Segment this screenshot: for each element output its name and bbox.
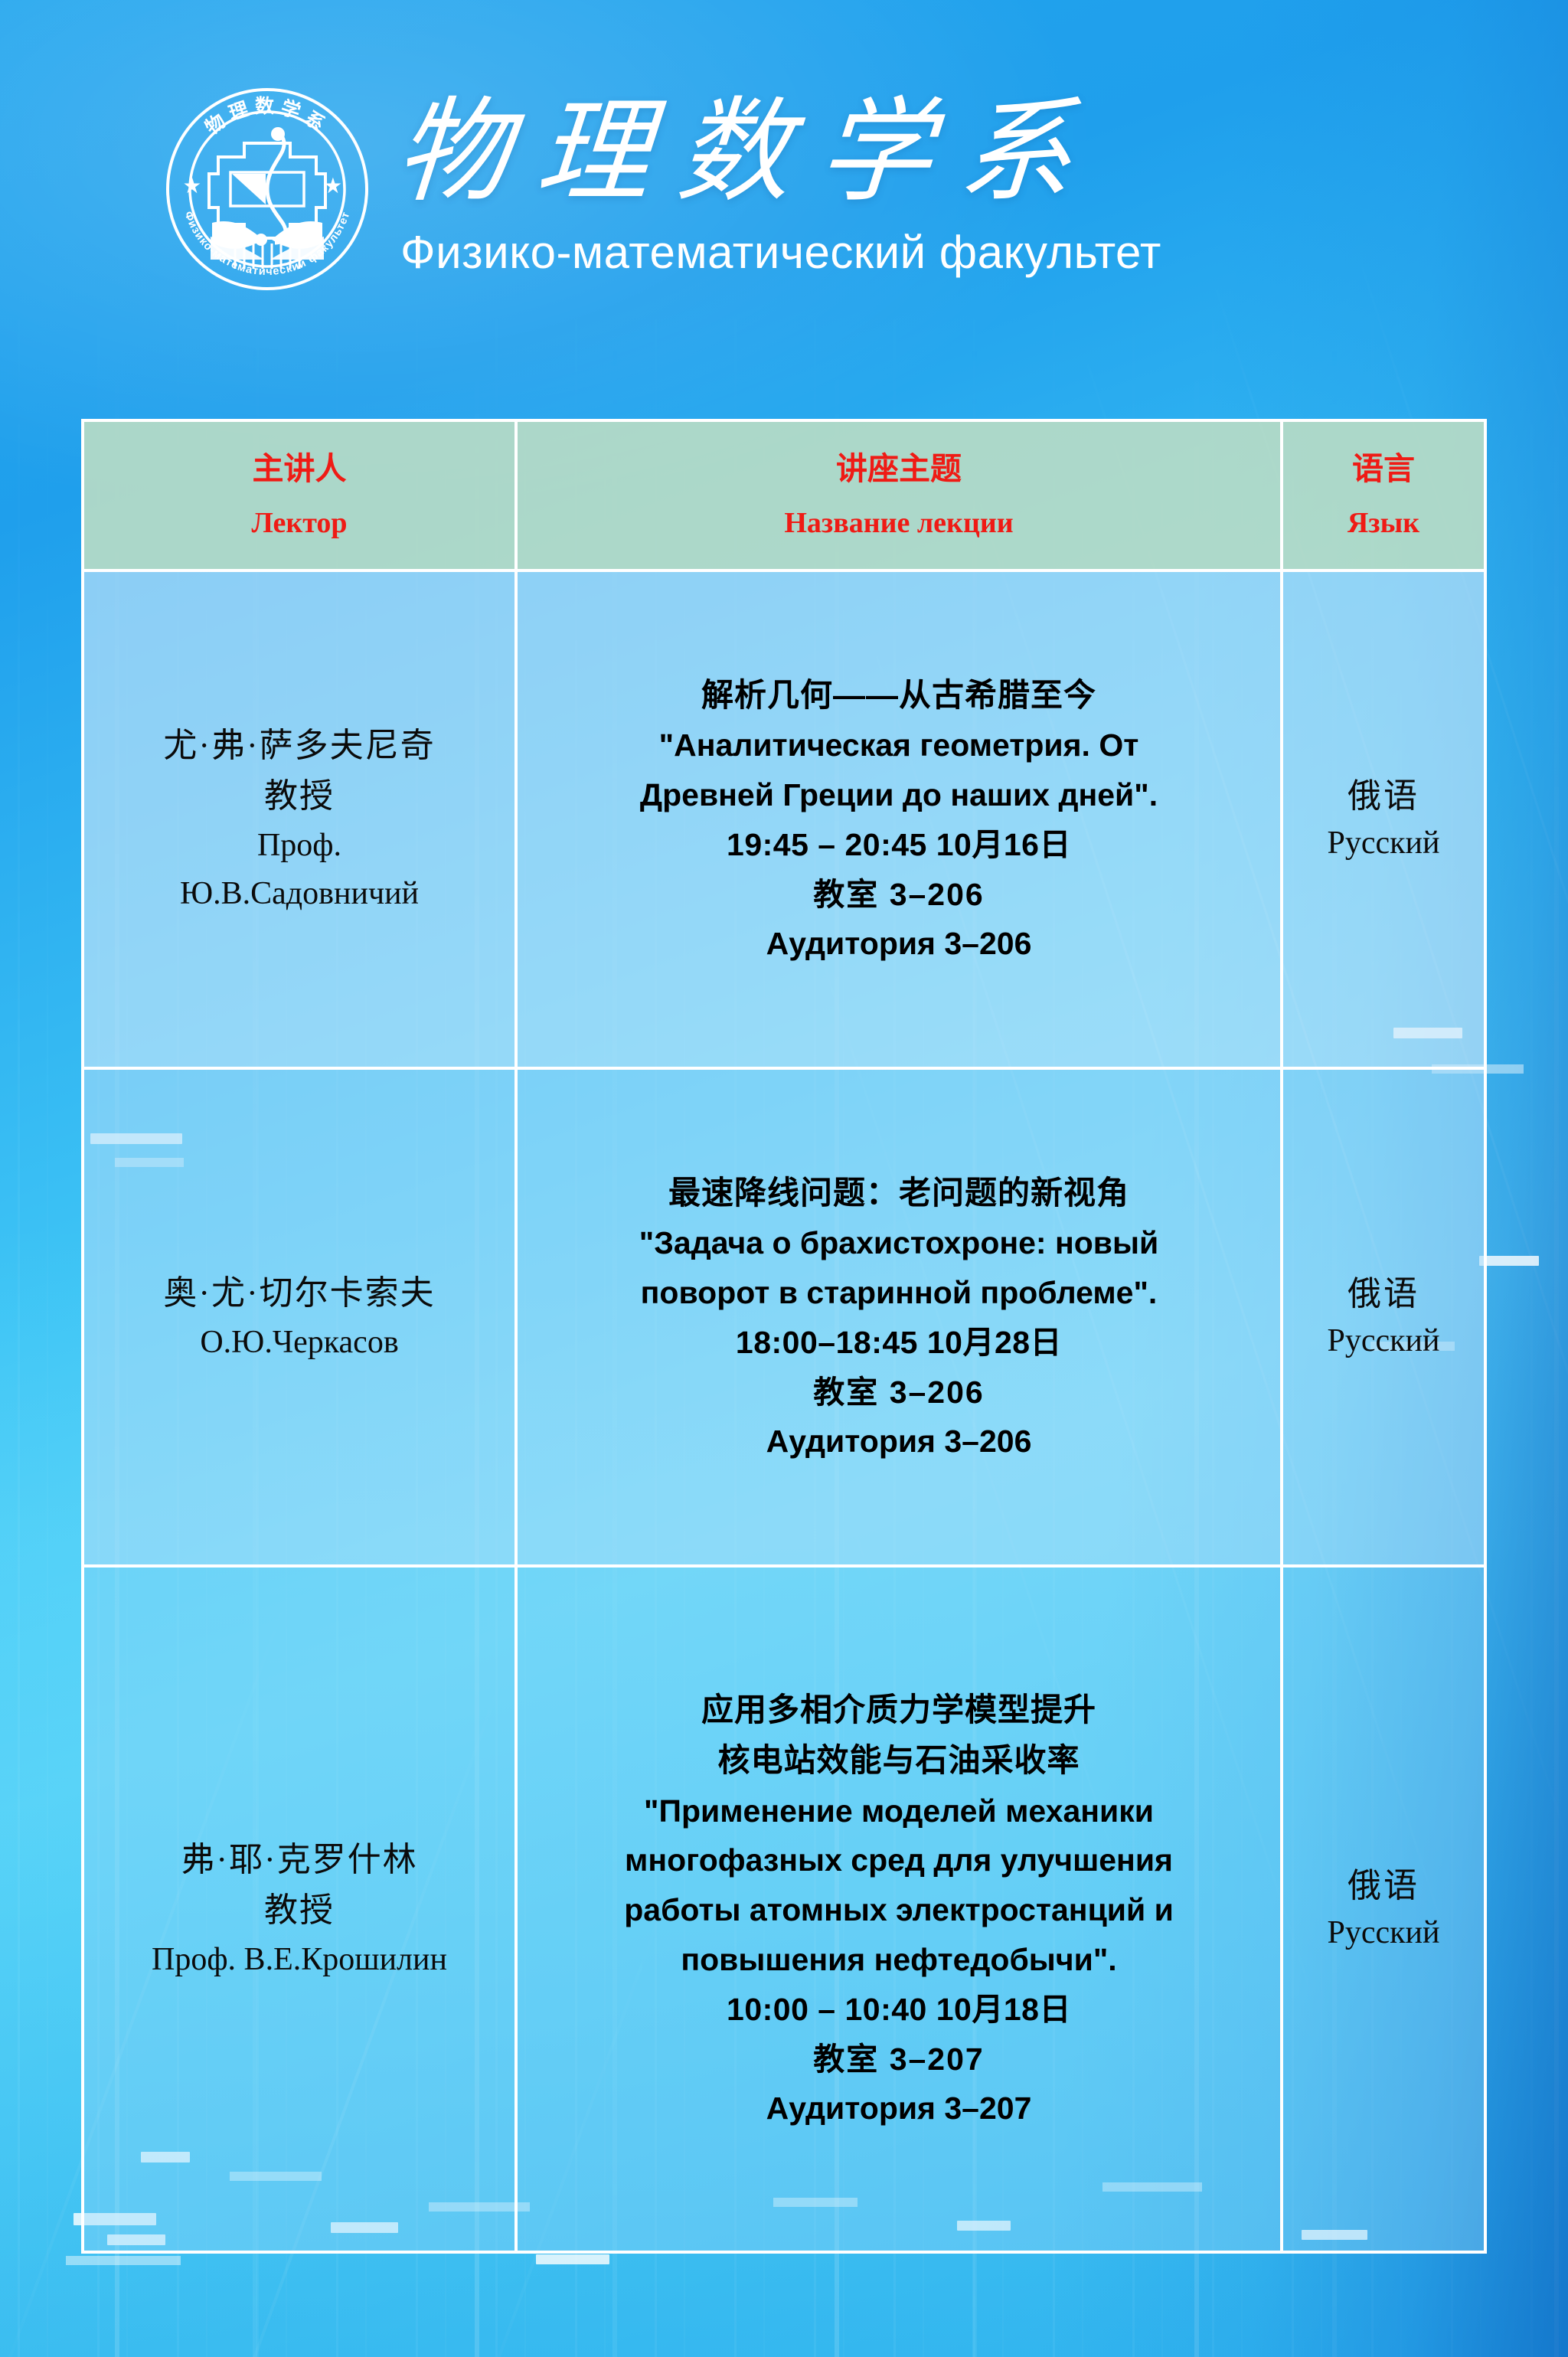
table-body: 尤·弗·萨多夫尼奇 教授 Проф. Ю.В.Садовничий 解析几何——… xyxy=(81,569,1487,2254)
column-header-lecturer: 主讲人 Лектор xyxy=(81,419,518,569)
cell-topic: 解析几何——从古希腊至今 "Аналитическая геометрия. О… xyxy=(518,569,1283,1067)
logo-star-right xyxy=(325,178,341,194)
column-header-lecturer-cn: 主讲人 xyxy=(92,452,507,486)
language-block: 俄语 Русский xyxy=(1291,1862,1476,1957)
logo-triangle xyxy=(232,174,266,204)
lecturer-rank-cn: 教授 xyxy=(92,1885,507,1936)
topic-title-cn-1: 应用多相介质力学模型提升 xyxy=(525,1685,1272,1735)
topic-room-cn: 教室 3–206 xyxy=(525,1368,1272,1417)
language-ru: Русский xyxy=(1291,820,1476,867)
logo-star-left xyxy=(184,178,200,194)
logo-book-pages xyxy=(235,244,299,269)
topic-title-ru-1: "Аналитическая геометрия. От xyxy=(525,721,1272,770)
topic-time: 10:00 – 10:40 10月18日 xyxy=(525,1985,1272,2035)
topic-time: 19:45 – 20:45 10月16日 xyxy=(525,820,1272,870)
cell-topic: 最速降线问题：老问题的新视角 "Задача о брахистохроне: … xyxy=(518,1067,1283,1564)
schedule-table: 主讲人 Лектор 讲座主题 Название лекции 语言 Язык xyxy=(81,419,1487,2254)
language-ru: Русский xyxy=(1291,1318,1476,1365)
topic-block: 解析几何——从古希腊至今 "Аналитическая геометрия. О… xyxy=(525,670,1272,969)
lecturer-rank-cn: 教授 xyxy=(92,771,507,822)
logo-open-book xyxy=(211,221,324,260)
topic-title-cn: 解析几何——从古希腊至今 xyxy=(525,670,1272,721)
title-block: 物理数学系 Физико-математический факультет xyxy=(396,96,1161,276)
topic-title-ru-1: "Задача о брахистохроне: новый xyxy=(525,1218,1272,1268)
topic-title-cn: 最速降线问题：老问题的新视角 xyxy=(525,1168,1272,1218)
topic-title-ru-2: Древней Греции до наших дней". xyxy=(525,770,1272,820)
lecturer-name-cn: 弗·耶·克罗什林 xyxy=(92,1835,507,1885)
topic-room-cn: 教室 3–207 xyxy=(525,2035,1272,2084)
schedule-table-wrapper: 主讲人 Лектор 讲座主题 Название лекции 语言 Язык xyxy=(81,419,1487,2254)
faculty-logo: 物理数学系 Физико-математический факультет xyxy=(165,87,370,292)
topic-block: 最速降线问题：老问题的新视角 "Задача о брахистохроне: … xyxy=(525,1168,1272,1466)
lecturer-rank-ru: Проф. xyxy=(92,822,507,870)
column-header-language-cn: 语言 xyxy=(1291,452,1476,486)
topic-title-ru-2: поворот в старинной проблеме". xyxy=(525,1268,1272,1318)
table-head: 主讲人 Лектор 讲座主题 Название лекции 语言 Язык xyxy=(81,419,1487,569)
lecture-schedule-poster: 物理数学系 Физико-математический факультет xyxy=(0,0,1568,2357)
cell-language: 俄语 Русский xyxy=(1283,569,1487,1067)
column-header-topic-ru: Название лекции xyxy=(525,508,1272,540)
poster-title-cn: 物理数学系 xyxy=(392,96,1165,210)
lecturer-name-ru: Проф. В.Е.Крошилин xyxy=(92,1936,507,1984)
topic-room-cn: 教室 3–206 xyxy=(525,870,1272,920)
language-block: 俄语 Русский xyxy=(1291,772,1476,868)
column-header-topic: 讲座主题 Название лекции xyxy=(518,419,1283,569)
poster-title-ru: Физико-математический факультет xyxy=(400,230,1161,276)
topic-title-ru-1: "Применение моделей механики xyxy=(525,1787,1272,1836)
topic-block: 应用多相介质力学模型提升 核电站效能与石油采收率 "Применение мод… xyxy=(525,1685,1272,2133)
topic-room-ru: Аудитория 3–206 xyxy=(525,1417,1272,1466)
table-header-row: 主讲人 Лектор 讲座主题 Название лекции 语言 Язык xyxy=(81,419,1487,569)
lecturer-name-cn: 奥·尤·切尔卡索夫 xyxy=(92,1268,507,1319)
column-header-language: 语言 Язык xyxy=(1283,419,1487,569)
lecturer-name-ru: О.Ю.Черкасов xyxy=(92,1319,507,1367)
table-row: 尤·弗·萨多夫尼奇 教授 Проф. Ю.В.Садовничий 解析几何——… xyxy=(81,569,1487,1067)
cell-lecturer: 奥·尤·切尔卡索夫 О.Ю.Черкасов xyxy=(81,1067,518,1564)
language-ru: Русский xyxy=(1291,1910,1476,1957)
cell-topic: 应用多相介质力学模型提升 核电站效能与石油采收率 "Применение мод… xyxy=(518,1564,1283,2254)
topic-room-ru: Аудитория 3–206 xyxy=(525,919,1272,969)
cell-lecturer: 弗·耶·克罗什林 教授 Проф. В.Е.Крошилин xyxy=(81,1564,518,2254)
column-header-language-ru: Язык xyxy=(1291,508,1476,540)
column-header-topic-cn: 讲座主题 xyxy=(525,452,1272,486)
table-row: 弗·耶·克罗什林 教授 Проф. В.Е.Крошилин 应用多相介质力学模… xyxy=(81,1564,1487,2254)
language-cn: 俄语 xyxy=(1291,772,1476,821)
cell-language: 俄语 Русский xyxy=(1283,1067,1487,1564)
language-cn: 俄语 xyxy=(1291,1270,1476,1319)
topic-room-ru: Аудитория 3–207 xyxy=(525,2084,1272,2133)
cell-language: 俄语 Русский xyxy=(1283,1564,1487,2254)
lecturer-block: 奥·尤·切尔卡索夫 О.Ю.Черкасов xyxy=(92,1268,507,1367)
topic-title-ru-2: многофазных сред для улучшения xyxy=(525,1836,1272,1885)
table-row: 奥·尤·切尔卡索夫 О.Ю.Черкасов 最速降线问题：老问题的新视角 "З… xyxy=(81,1067,1487,1564)
poster-header: 物理数学系 Физико-математический факультет xyxy=(0,0,1568,306)
column-header-lecturer-ru: Лектор xyxy=(92,508,507,540)
topic-title-cn-2: 核电站效能与石油采收率 xyxy=(525,1735,1272,1786)
language-cn: 俄语 xyxy=(1291,1862,1476,1911)
topic-title-ru-4: повышения нефтедобычи". xyxy=(525,1935,1272,1985)
lecturer-name-ru: Ю.В.Садовничий xyxy=(92,870,507,918)
topic-time: 18:00–18:45 10月28日 xyxy=(525,1318,1272,1368)
language-block: 俄语 Русский xyxy=(1291,1270,1476,1365)
topic-title-ru-3: работы атомных электростанций и xyxy=(525,1885,1272,1935)
lecturer-block: 弗·耶·克罗什林 教授 Проф. В.Е.Крошилин xyxy=(92,1835,507,1984)
lecturer-block: 尤·弗·萨多夫尼奇 教授 Проф. Ю.В.Садовничий xyxy=(92,721,507,918)
cell-lecturer: 尤·弗·萨多夫尼奇 教授 Проф. Ю.В.Садовничий xyxy=(81,569,518,1067)
lecturer-name-cn: 尤·弗·萨多夫尼奇 xyxy=(92,721,507,771)
